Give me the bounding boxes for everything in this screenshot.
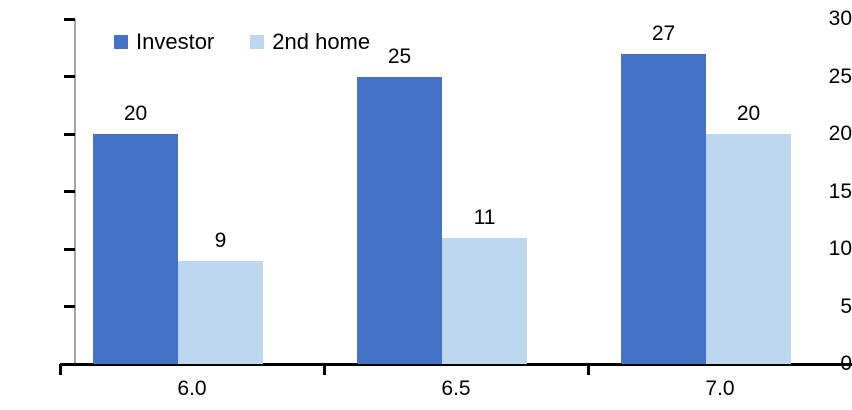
y-axis-tick bbox=[64, 305, 75, 308]
y-axis-tick bbox=[64, 190, 75, 193]
bar-value-label: 11 bbox=[445, 207, 525, 228]
bar-investor-6.5 bbox=[357, 77, 442, 365]
x-axis-tick-label: 7.0 bbox=[660, 378, 780, 399]
x-axis-tick-label: 6.5 bbox=[396, 378, 516, 399]
y-axis-tick-label: 10 bbox=[806, 238, 852, 259]
x-axis-line bbox=[60, 363, 852, 366]
y-axis-tick bbox=[64, 75, 75, 78]
x-axis-tick-label: 6.0 bbox=[132, 378, 252, 399]
legend-item-investor[interactable]: Investor bbox=[114, 31, 214, 53]
legend-item-2nd-home[interactable]: 2nd home bbox=[250, 31, 370, 53]
bar-value-label: 25 bbox=[360, 46, 440, 67]
legend-label: Investor bbox=[136, 31, 214, 53]
bar-value-label: 20 bbox=[709, 103, 789, 124]
y-axis-tick bbox=[64, 248, 75, 251]
bar-investor-6.0 bbox=[93, 134, 178, 364]
bar-chart: 051015202530 6.06.57.0 20925112720 Inves… bbox=[0, 0, 852, 410]
y-axis-tick-label: 25 bbox=[806, 66, 852, 87]
bar-investor-7.0 bbox=[621, 54, 706, 365]
y-axis-tick-label: 20 bbox=[806, 123, 852, 144]
x-axis-tick bbox=[323, 364, 326, 375]
legend-swatch-icon bbox=[250, 35, 264, 49]
y-axis-tick-label: 15 bbox=[806, 181, 852, 202]
x-axis-tick bbox=[59, 364, 62, 375]
legend-label: 2nd home bbox=[272, 31, 370, 53]
bar-2nd-home-7.0 bbox=[706, 134, 791, 364]
y-axis-tick-label: 5 bbox=[806, 296, 852, 317]
bar-2nd-home-6.5 bbox=[442, 238, 527, 365]
y-axis-tick bbox=[64, 133, 75, 136]
bar-value-label: 20 bbox=[96, 103, 176, 124]
bar-2nd-home-6.0 bbox=[178, 261, 263, 365]
y-axis-tick-label: 30 bbox=[806, 8, 852, 29]
bar-value-label: 9 bbox=[181, 230, 261, 251]
bar-value-label: 27 bbox=[624, 23, 704, 44]
legend-swatch-icon bbox=[114, 35, 128, 49]
y-axis-tick bbox=[64, 18, 75, 21]
plot-area: 20925112720 bbox=[0, 0, 852, 410]
x-axis-tick bbox=[587, 364, 590, 375]
chart-legend: Investor2nd home bbox=[114, 31, 370, 53]
